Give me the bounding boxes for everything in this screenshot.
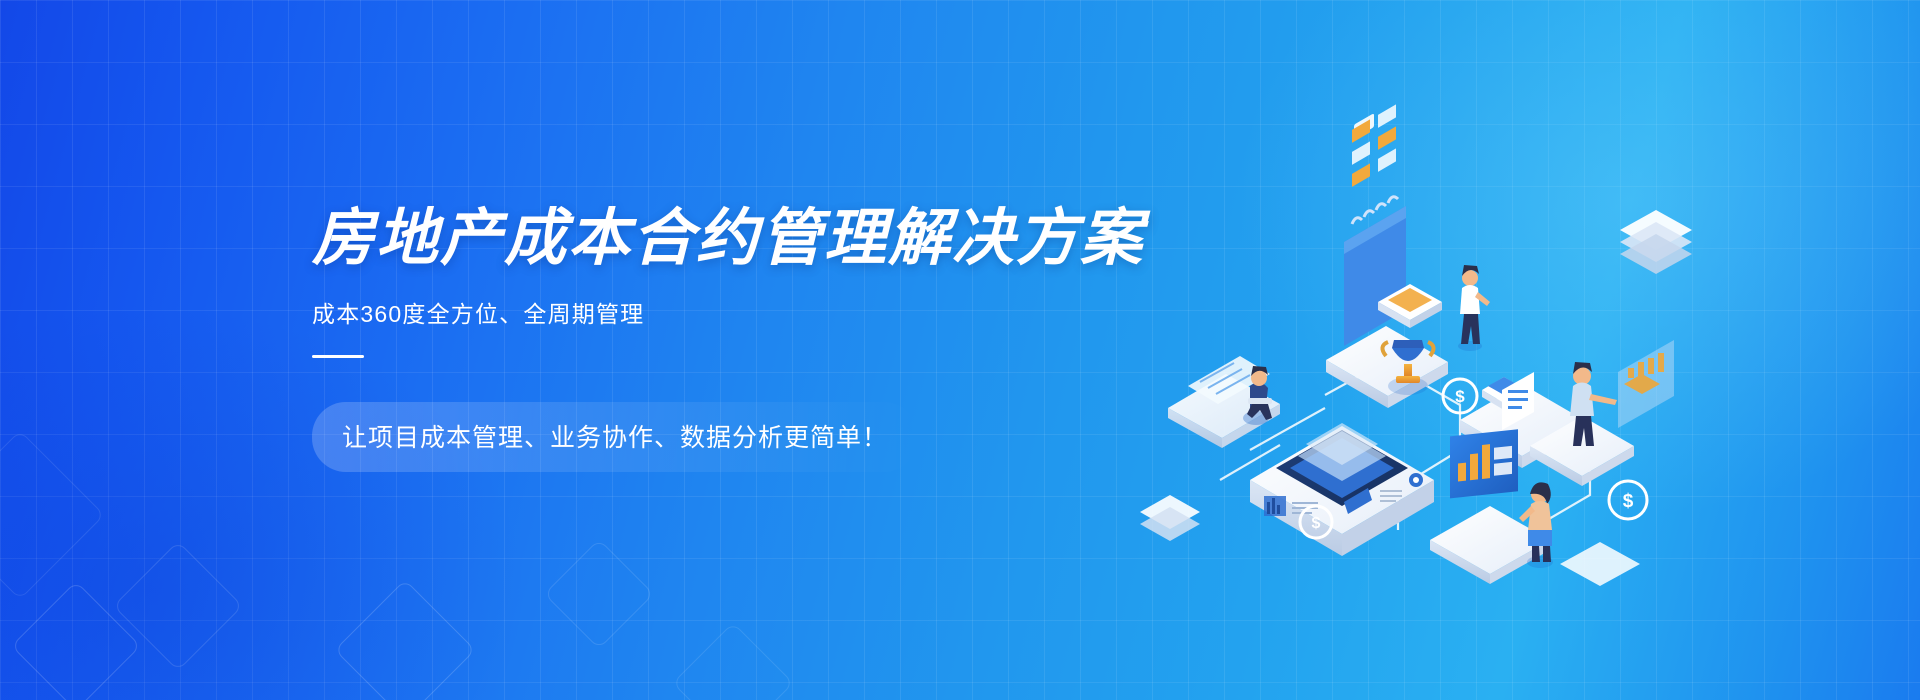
- decorative-rhombus: [11, 581, 141, 700]
- hero-subheadline: 成本360度全方位、全周期管理: [312, 298, 1072, 330]
- calendar-board: [1326, 104, 1448, 408]
- stacked-plates: [1560, 542, 1640, 586]
- stacked-plates: [1620, 210, 1692, 274]
- svg-text:$: $: [1455, 387, 1465, 406]
- hero-illustration: $ $ $: [1130, 150, 1690, 570]
- decorative-rhombus: [113, 541, 243, 671]
- hero-banner: 房地产成本合约管理解决方案 成本360度全方位、全周期管理 让项目成本管理、业务…: [0, 0, 1920, 700]
- hero-copy-block: 房地产成本合约管理解决方案 成本360度全方位、全周期管理 让项目成本管理、业务…: [312, 206, 1072, 472]
- stacked-plates: [1140, 495, 1200, 541]
- standing-man: [1458, 265, 1490, 351]
- decorative-rhombus: [544, 539, 654, 649]
- hero-tagline: 让项目成本管理、业务协作、数据分析更简单！: [312, 402, 918, 472]
- decorative-rhombus: [0, 430, 105, 600]
- chart-panel: [1618, 340, 1674, 428]
- server-device: [1250, 423, 1434, 556]
- divider-rule: [312, 355, 364, 358]
- decorative-rhombus: [672, 622, 794, 700]
- hero-headline: 房地产成本合约管理解决方案: [312, 206, 1072, 272]
- svg-text:$: $: [1312, 515, 1321, 532]
- svg-text:$: $: [1623, 491, 1634, 512]
- decorative-rhombus: [334, 579, 475, 700]
